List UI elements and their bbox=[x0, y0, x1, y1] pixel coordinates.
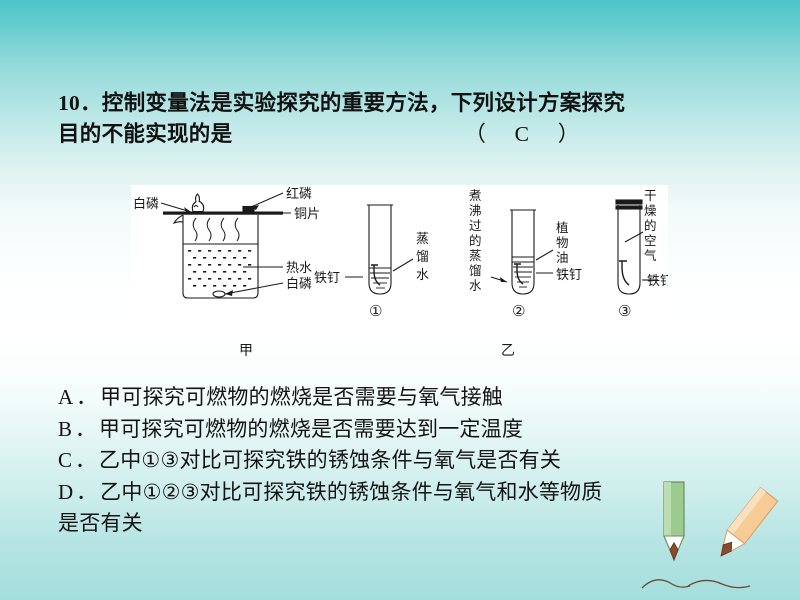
question-number: 10 bbox=[58, 91, 80, 115]
label-tube3-dry-air-c2: 燥 bbox=[644, 203, 657, 218]
pencil-squiggle-left bbox=[642, 580, 690, 588]
option-d-continuation: 是否有关 bbox=[58, 508, 758, 540]
label-red-phosphorus: 红磷 bbox=[286, 186, 312, 202]
option-b-letter: B bbox=[58, 414, 72, 446]
question-number-separator: ． bbox=[80, 91, 102, 115]
question-text-line1: 控制变量法是实验探究的重要方法，下列设计方案探究 bbox=[102, 91, 625, 116]
label-white-phosphorus-top: 白磷 bbox=[133, 196, 159, 212]
label-tube2-boiled-water-c4: 的 bbox=[469, 233, 482, 248]
option-d-letter: D bbox=[58, 477, 73, 509]
label-tube2-boiled-water-c1: 煮 bbox=[469, 188, 482, 203]
pencil-squiggle-right bbox=[688, 580, 750, 587]
figure-caption-yi: 乙 bbox=[501, 340, 515, 360]
label-tube3-dry-air-c1: 干 bbox=[644, 188, 657, 203]
tube-1-index-label: ① bbox=[369, 302, 382, 320]
label-tube2-boiled-water-c7: 水 bbox=[469, 278, 482, 293]
label-tube3-dry-air-c4: 空 bbox=[644, 233, 657, 248]
option-d-text: 乙中①②③对比可探究铁的锈蚀条件与氧气和水等物质 bbox=[100, 477, 602, 509]
option-b-separator: ． bbox=[75, 414, 96, 446]
label-tube1-distilled-water-c3: 水 bbox=[416, 268, 429, 283]
label-tube2-boiled-water-c3: 过 bbox=[469, 218, 482, 233]
label-tube2-boiled-water-c6: 馏 bbox=[469, 263, 482, 278]
option-c-text: 乙中①③对比可探究铁的锈蚀条件与氧气是否有关 bbox=[99, 445, 561, 477]
answer-marker: （ C ） bbox=[464, 119, 585, 150]
label-tube1-iron-nail: 铁钉 bbox=[314, 271, 340, 286]
figure-panel: 白磷 红磷 铜片 热水 白磷 bbox=[131, 185, 668, 333]
slide-canvas: 10．控制变量法是实验探究的重要方法，下列设计方案探究 目的不能实现的是 （ C… bbox=[0, 0, 800, 600]
tube-3-index-label: ③ bbox=[618, 302, 631, 320]
question-block: 10．控制变量法是实验探究的重要方法，下列设计方案探究 目的不能实现的是 （ C… bbox=[58, 88, 758, 150]
tube-2-index-label: ② bbox=[512, 302, 525, 320]
question-line-1: 10．控制变量法是实验探究的重要方法，下列设计方案探究 bbox=[58, 88, 758, 119]
iron-nail-3-shape bbox=[619, 261, 627, 267]
steam-lines bbox=[193, 218, 239, 241]
submerged-phosphorus-shape bbox=[213, 291, 225, 297]
leader-tube1-water bbox=[393, 259, 413, 271]
label-copper-sheet: 铜片 bbox=[294, 207, 320, 222]
option-c-separator: ． bbox=[75, 445, 96, 477]
option-c-letter: C bbox=[58, 445, 72, 477]
label-white-phosphorus-bottom: 白磷 bbox=[286, 276, 312, 292]
hot-water-dots bbox=[188, 250, 251, 287]
option-a[interactable]: A．甲可探究可燃物的燃烧是否需要与氧气接触 bbox=[58, 382, 758, 414]
leader-red-phosphorus bbox=[251, 193, 283, 207]
option-a-separator: ． bbox=[76, 382, 97, 414]
option-a-letter: A bbox=[58, 382, 73, 414]
option-c[interactable]: C．乙中①③对比可探究铁的锈蚀条件与氧气是否有关 bbox=[58, 445, 758, 477]
stopper-shape bbox=[616, 200, 642, 204]
label-tube3-iron-nail: 铁钉 bbox=[647, 274, 668, 289]
experiment-diagram: 白磷 红磷 铜片 热水 白磷 bbox=[131, 185, 668, 333]
option-b[interactable]: B．甲可探究可燃物的燃烧是否需要达到一定温度 bbox=[58, 414, 758, 446]
beaker-spout bbox=[174, 215, 183, 223]
label-tube2-boiled-water-c5: 蒸 bbox=[469, 248, 482, 263]
figure-caption-jia: 甲 bbox=[239, 340, 253, 360]
label-tube3-dry-air-c5: 气 bbox=[644, 248, 657, 263]
tube1-water-hatch bbox=[370, 273, 390, 288]
label-tube2-iron-nail: 铁钉 bbox=[556, 268, 582, 283]
label-tube3-dry-air-c3: 的 bbox=[644, 218, 657, 233]
label-tube1-distilled-water-c2: 馏 bbox=[416, 250, 429, 265]
label-hot-water: 热水 bbox=[286, 261, 312, 276]
white-phosphorus-burning-shape bbox=[192, 194, 203, 212]
label-tube2-vegetable-oil-c3: 油 bbox=[556, 250, 569, 265]
option-d-separator: ． bbox=[76, 477, 97, 509]
leader-tube2-oil bbox=[536, 250, 553, 260]
label-tube2-vegetable-oil-c2: 物 bbox=[556, 235, 569, 250]
option-b-text: 甲可探究可燃物的燃烧是否需要达到一定温度 bbox=[99, 414, 523, 446]
label-tube2-vegetable-oil-c1: 植 bbox=[556, 220, 569, 235]
question-text-line2: 目的不能实现的是 bbox=[58, 119, 232, 150]
option-a-text: 甲可探究可燃物的燃烧是否需要与氧气接触 bbox=[100, 382, 503, 414]
test-tube-1-outline bbox=[369, 205, 391, 294]
test-tube-2-outline bbox=[512, 210, 534, 294]
option-d[interactable]: D．乙中①②③对比可探究铁的锈蚀条件与氧气和水等物质 bbox=[58, 477, 758, 509]
options-list: A．甲可探究可燃物的燃烧是否需要与氧气接触 B．甲可探究可燃物的燃烧是否需要达到… bbox=[58, 382, 758, 540]
label-tube1-distilled-water-c1: 蒸 bbox=[416, 232, 429, 247]
label-tube2-boiled-water-c2: 沸 bbox=[469, 203, 482, 218]
question-line-2: 目的不能实现的是 （ C ） bbox=[58, 119, 758, 150]
leader-white-phosphorus-bottom bbox=[225, 283, 283, 294]
test-tube-3-outline bbox=[618, 205, 640, 294]
